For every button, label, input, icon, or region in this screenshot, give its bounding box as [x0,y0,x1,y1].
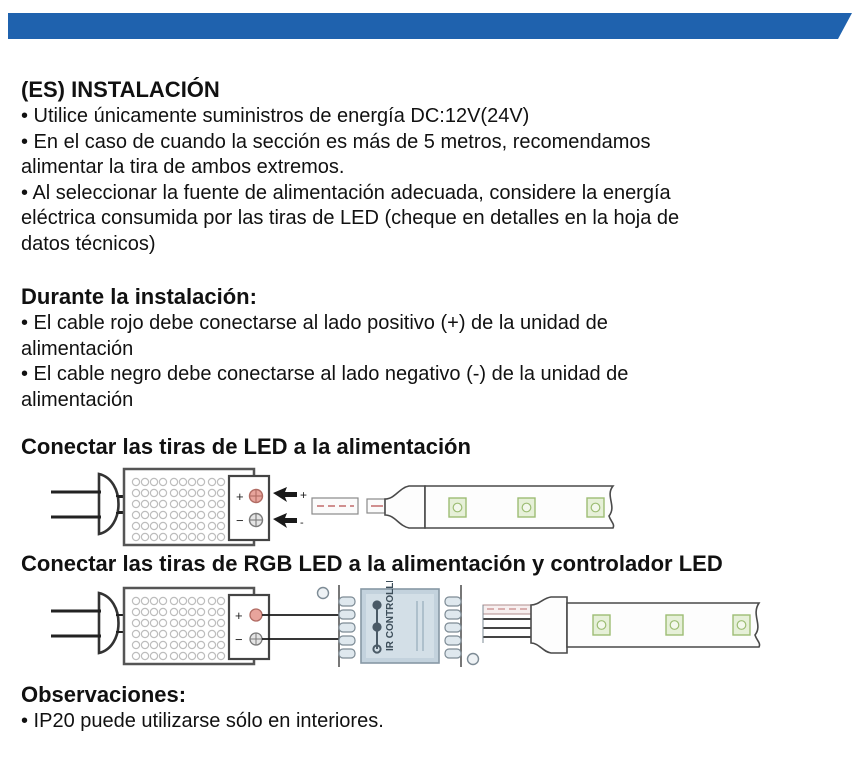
strip-connector [385,486,425,528]
bullet-power-selection-line1: • Al seleccionar la fuente de alimentaci… [21,181,833,207]
power-supply-unit: + − [124,469,269,545]
ac-plug-icon [51,474,119,534]
ir-controller: IR CONTROLLER [361,581,439,663]
banner-shape [8,13,852,39]
heading-conectar-led: Conectar las tiras de LED a la alimentac… [21,433,833,460]
spacer [21,413,833,433]
bullet-red-wire-line1: • El cable rojo debe conectarse al lado … [21,311,833,337]
bullet-power-selection-line3: datos técnicos) [21,232,833,258]
svg-text:-: - [300,517,304,529]
document-body: (ES) INSTALACIÓN • Utilice únicamente su… [21,76,833,735]
bullet-dc-supply: • Utilice únicamente suministros de ener… [21,104,833,130]
rgb-led-strip-wiring-diagram: + − [21,581,833,671]
bullet-5-meters-line1: • En el caso de cuando la sección es más… [21,130,833,156]
spacer [21,257,833,283]
bullet-black-wire-line2: alimentación [21,388,833,414]
strip-lead-wires [312,498,385,514]
heading-observaciones: Observaciones: [21,681,833,708]
heading-instalacion: (ES) INSTALACIÓN [21,76,833,103]
terminal-positive [250,609,262,621]
bullet-power-selection-line2: eléctrica consumida por las tiras de LED… [21,206,833,232]
terminal-negative-label: − [235,632,243,647]
controller-output-terminals [445,585,479,667]
bullet-ip20: • IP20 puede utilizarse sólo en interior… [21,709,833,735]
power-supply-unit: + − [124,588,269,664]
bullet-5-meters-line2: alimentar la tira de ambos extremos. [21,155,833,181]
terminal-positive-label: + [236,489,244,504]
white-rgb-led-strip [567,603,760,647]
terminal-negative-label: − [236,513,244,528]
connection-arrows: + - [273,487,307,529]
svg-text:+: + [300,488,307,502]
ac-plug-icon [51,593,119,653]
spacer [21,671,833,681]
strip-connector [531,597,567,653]
heading-durante-instalacion: Durante la instalación: [21,283,833,310]
controller-to-strip-wires [483,605,531,643]
header-banner [8,13,852,39]
led-strip-wiring-diagram: + − + - [21,466,833,550]
controller-input-terminals [318,585,356,667]
psu-to-controller-wires [262,615,339,639]
white-led-strip [425,486,614,528]
bullet-black-wire-line1: • El cable negro debe conectarse al lado… [21,362,833,388]
terminal-positive-label: + [235,608,243,623]
heading-conectar-rgb-led: Conectar las tiras de RGB LED a la alime… [21,550,833,577]
ir-controller-label: IR CONTROLLER [385,581,396,651]
bullet-red-wire-line2: alimentación [21,337,833,363]
